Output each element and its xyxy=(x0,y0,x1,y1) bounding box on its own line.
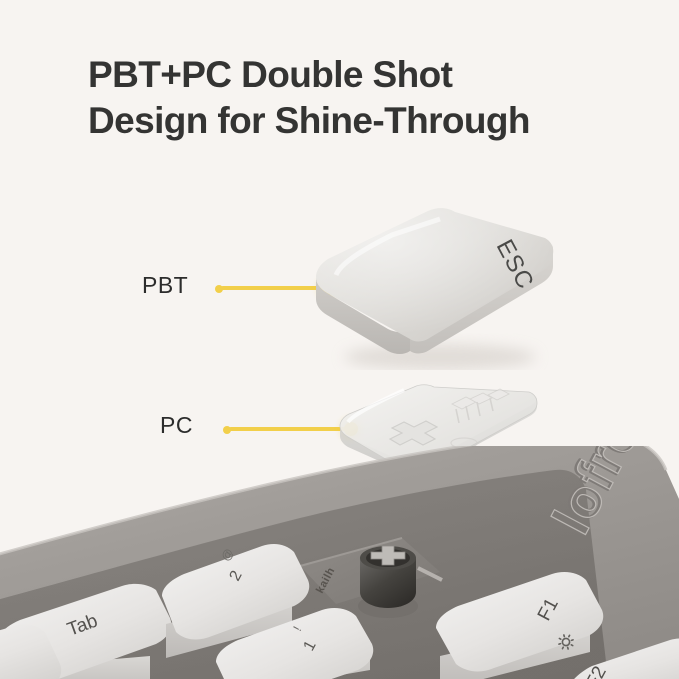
headline-line2: Design for Shine-Through xyxy=(88,98,628,144)
product-marketing-image: PBT+PC Double Shot Design for Shine-Thro… xyxy=(0,0,679,679)
headline-line1-rest: Double Shot xyxy=(231,54,452,95)
callout-label-pc: PC xyxy=(160,412,193,439)
esc-keycap-top-layer: ESC xyxy=(300,205,565,370)
page-title: PBT+PC Double Shot Design for Shine-Thro… xyxy=(88,52,628,144)
keyboard-product-photo: kailh Tab xyxy=(0,446,679,679)
headline-accent: PBT+PC xyxy=(88,54,231,95)
keycap-shadow xyxy=(344,344,536,370)
callout-label-pbt: PBT xyxy=(142,272,188,299)
